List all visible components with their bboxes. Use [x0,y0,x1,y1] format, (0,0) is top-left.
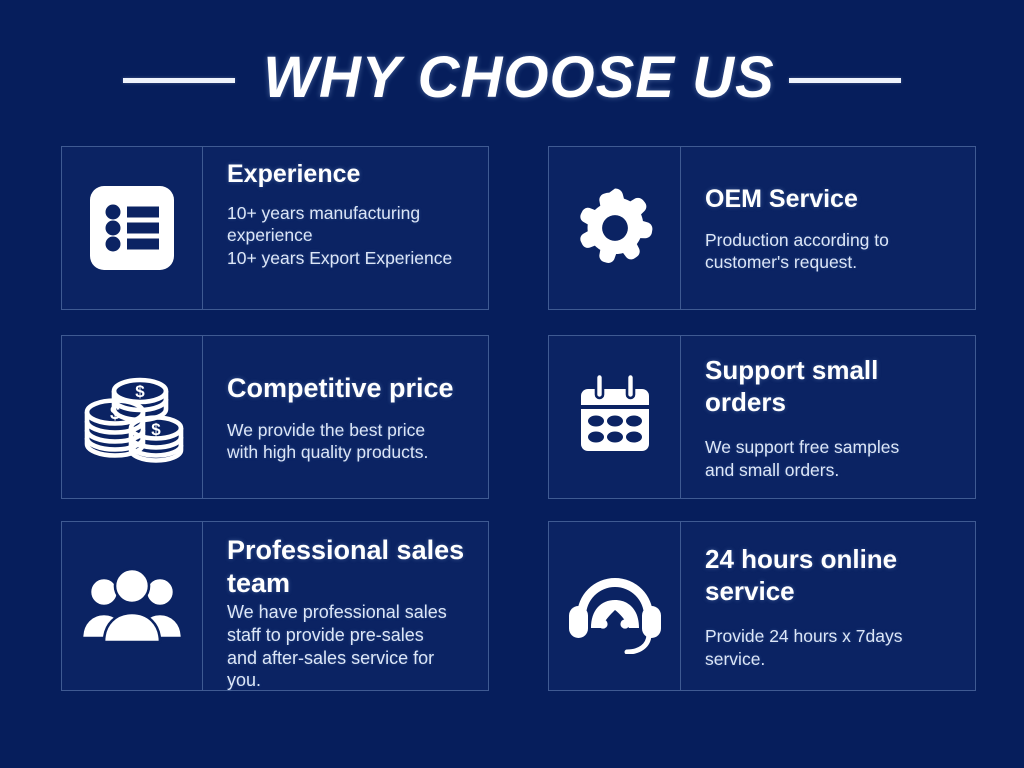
feature-desc: Provide 24 hours x 7days service. [705,625,963,670]
svg-text:$: $ [151,420,161,439]
headset-icon [549,522,681,690]
feature-desc-line: 10+ years manufacturing [227,202,476,225]
feature-title: OEM Service [705,184,963,215]
feature-row: Experience 10+ years manufacturing exper… [61,146,977,310]
page-title: WHY CHOOSE US [263,44,774,111]
page-title-row: WHY CHOOSE US [0,38,1024,116]
feature-row: $ $ $ Competitive price We provide the b… [61,335,977,499]
feature-desc-line: We support free samples [705,436,963,458]
feature-card-body: OEM Service Production according to cust… [681,147,975,309]
feature-desc: 10+ years manufacturing experience 10+ y… [227,202,476,270]
feature-desc-line: service. [705,648,963,670]
feature-grid: Experience 10+ years manufacturing exper… [61,146,977,691]
list-icon [62,147,203,309]
feature-card-body: 24 hours online service Provide 24 hours… [681,522,975,690]
feature-card-oem-service[interactable]: OEM Service Production according to cust… [548,146,976,310]
gear-icon [549,147,681,309]
slide-root: WHY CHOOSE US [0,0,1024,768]
feature-row: Professional sales team We have professi… [61,521,977,691]
feature-desc-line: and after-sales service for [227,647,476,670]
feature-title: Support small orders [705,355,963,418]
feature-card-professional-sales-team[interactable]: Professional sales team We have professi… [61,521,489,691]
feature-desc-line: staff to provide pre-sales [227,624,476,647]
people-icon [62,522,203,690]
feature-title: 24 hours online service [705,544,963,607]
feature-desc-line: Production according to [705,229,963,251]
feature-title: Competitive price [227,372,476,405]
feature-desc-line: with high quality products. [227,441,476,463]
feature-card-body: Experience 10+ years manufacturing exper… [203,147,488,309]
svg-text:$: $ [110,403,120,423]
feature-title: Experience [227,159,476,190]
coins-icon: $ $ $ [62,336,203,498]
feature-desc-line: Provide 24 hours x 7days [705,625,963,647]
feature-desc: We have professional sales staff to prov… [227,601,476,692]
feature-desc-line: We provide the best price [227,419,476,441]
feature-card-body: Support small orders We support free sam… [681,336,975,498]
svg-text:$: $ [135,382,145,401]
title-rule-left-icon [123,78,235,83]
feature-desc-line: experience [227,224,476,247]
feature-card-body: Competitive price We provide the best pr… [203,336,488,498]
calendar-icon [549,336,681,498]
feature-desc-line: customer's request. [705,251,963,273]
feature-desc: We support free samples and small orders… [705,436,963,481]
feature-card-support-small-orders[interactable]: Support small orders We support free sam… [548,335,976,499]
feature-card-24-hours-online-service[interactable]: 24 hours online service Provide 24 hours… [548,521,976,691]
feature-desc-line: We have professional sales [227,601,476,624]
feature-desc-line: you. [227,669,476,692]
feature-card-experience[interactable]: Experience 10+ years manufacturing exper… [61,146,489,310]
feature-card-competitive-price[interactable]: $ $ $ Competitive price We provide the b… [61,335,489,499]
feature-title: Professional sales team [227,534,476,600]
feature-desc: Production according to customer's reque… [705,229,963,274]
feature-desc: We provide the best price with high qual… [227,419,476,464]
feature-desc-line: 10+ years Export Experience [227,247,476,270]
feature-desc-line: and small orders. [705,459,963,481]
title-rule-right-icon [789,78,901,83]
feature-card-body: Professional sales team We have professi… [203,522,488,690]
